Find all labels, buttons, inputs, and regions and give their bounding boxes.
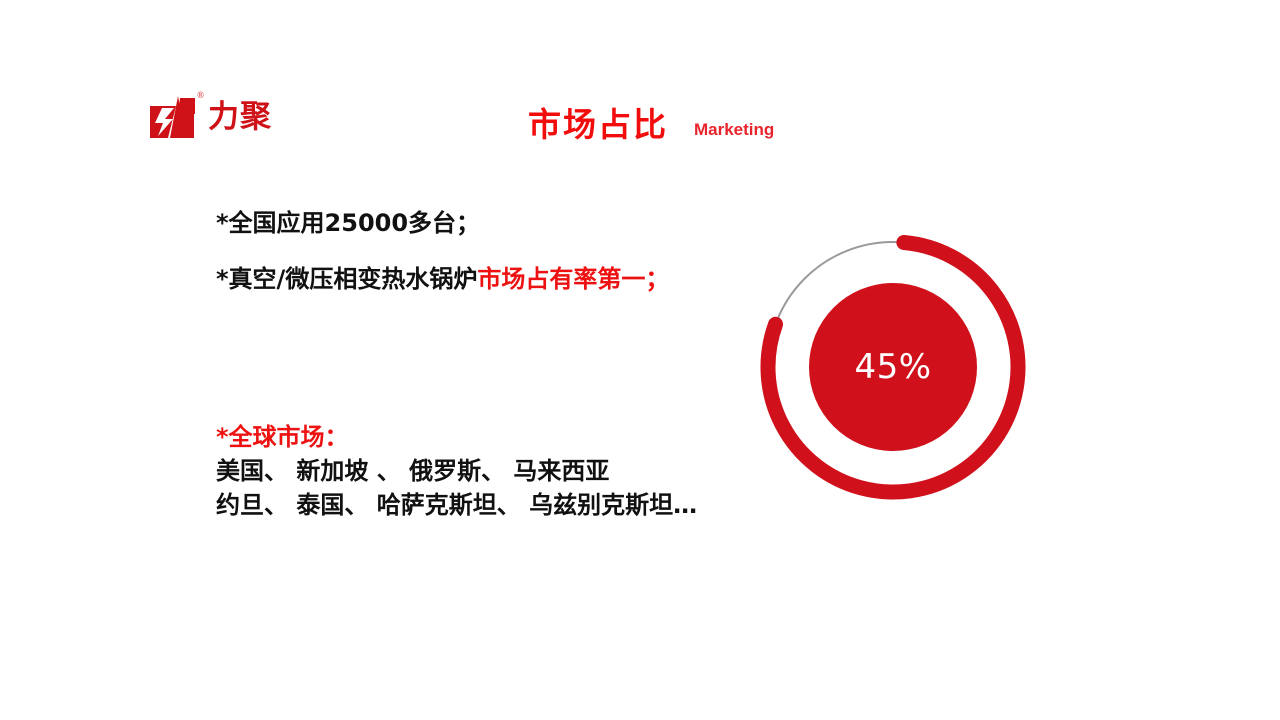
global-markets-block: *全球市场： 美国、 新加坡 、 俄罗斯、 马来西亚 约旦、 泰国、 哈萨克斯坦… (216, 420, 776, 522)
global-markets-line-2: 约旦、 泰国、 哈萨克斯坦、 乌兹别克斯坦… (216, 488, 776, 522)
global-markets-line-1: 美国、 新加坡 、 俄罗斯、 马来西亚 (216, 454, 776, 488)
page-title: 市场占比 (528, 108, 668, 141)
market-share-donut-chart: 45% (763, 237, 1023, 497)
donut-center-disc (809, 283, 977, 451)
slide-canvas: ® 力聚 市场占比 Marketing *全国应用25000多台； *真空/微压… (0, 0, 1280, 720)
company-logo: ® 力聚 (148, 88, 348, 146)
slide-title-block: 市场占比 Marketing (528, 108, 774, 141)
registered-trademark-icon: ® (197, 91, 204, 100)
global-markets-heading: *全球市场： (216, 420, 776, 454)
page-subtitle: Marketing (694, 121, 774, 138)
bullet-item-1: *全国应用25000多台； (216, 206, 696, 240)
liju-lightning-mark-icon: ® (148, 94, 200, 140)
bullet-item-2: *真空/微压相变热水锅炉市场占有率第一； (216, 262, 696, 296)
logo-wordmark: 力聚 (208, 102, 272, 133)
bullet-2-highlight: 市场占有率第一； (477, 265, 669, 293)
bullet-1-text: *全国应用25000多台； (216, 209, 480, 237)
bullet-list: *全国应用25000多台； *真空/微压相变热水锅炉市场占有率第一； (216, 206, 696, 296)
bullet-2-text: *真空/微压相变热水锅炉 (216, 265, 477, 293)
